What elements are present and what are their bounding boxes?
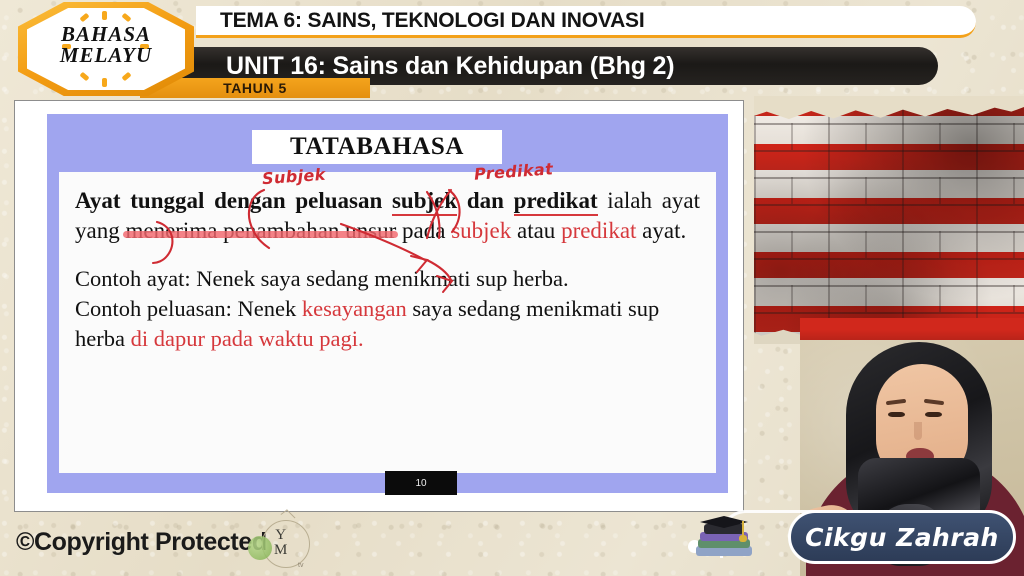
expansion-paragraph: Contoh peluasan: Nenek kesayangan saya s… <box>75 294 700 354</box>
annotation-predikat-label: Predikat <box>473 159 553 183</box>
def-seg-1: Ayat tunggal dengan peluasan <box>75 188 392 213</box>
def-seg-11: ayat. <box>636 218 686 243</box>
definition-paragraph: Ayat tunggal dengan peluasan subjek dan … <box>75 186 700 246</box>
bahasa-melayu-logo: BAHASA MELAYU <box>18 2 194 96</box>
presenter-name-pill: Cikgu Zahrah <box>788 510 1016 564</box>
tahun-banner-label: TAHUN 5 <box>223 80 287 96</box>
slide-canvas: TATABAHASA Ayat tunggal dengan peluasan … <box>47 114 728 493</box>
def-predikat-underlined: predikat <box>514 188 598 216</box>
page-number-label: 10 <box>415 478 426 489</box>
logo-line-2: MELAYU <box>18 45 194 66</box>
def-seg-3: dan <box>457 188 513 213</box>
graduation-cap-books-icon <box>696 512 754 564</box>
peluasan-kesayangan: kesayangan <box>302 296 407 321</box>
def-seg-9: atau <box>511 218 561 243</box>
def-struck-phrase: menerima penambahan unsur <box>125 218 396 243</box>
lesson-slide: TATABAHASA Ayat tunggal dengan peluasan … <box>14 100 744 512</box>
def-predikat-red: predikat <box>561 218 636 243</box>
lesson-header: TEMA 6: SAINS, TEKNOLOGI DAN INOVASI UNI… <box>0 0 1024 96</box>
brick-wall-decoration <box>754 96 1024 344</box>
slide-page-number: 10 <box>385 471 457 495</box>
contoh-peluasan-label: Contoh peluasan: <box>75 296 237 321</box>
unit-banner-tail <box>918 45 980 87</box>
peluasan-seg-a: Nenek <box>237 296 301 321</box>
def-seg-7: pada <box>396 218 451 243</box>
example-paragraph: Contoh ayat: Nenek saya sedang menikmati… <box>75 264 700 294</box>
def-subjek-underlined: subjek <box>392 188 457 216</box>
tema-banner: TEMA 6: SAINS, TEKNOLOGI DAN INOVASI <box>196 6 976 38</box>
peluasan-keterangan: di dapur pada waktu pagi. <box>131 326 364 351</box>
contoh-ayat-text: Nenek saya sedang menikmati sup herba. <box>196 266 568 291</box>
tema-banner-tail <box>956 3 1022 41</box>
unit-banner-label: UNIT 16: Sains dan Kehidupan (Bhg 2) <box>178 52 674 81</box>
contoh-ayat-label: Contoh ayat: <box>75 266 196 291</box>
annotation-subjek-label: Subjek <box>261 165 326 188</box>
sun-burst-icon <box>102 11 107 20</box>
presenter-name: Cikgu Zahrah <box>805 523 999 552</box>
presenter-badge: Cikgu Zahrah <box>684 500 1024 576</box>
page-title: TATABAHASA <box>290 133 464 161</box>
logo-line-1: BAHASA <box>18 24 194 45</box>
copyright-notice: ©Copyright Protected <box>16 528 267 557</box>
slide-title-box: TATABAHASA <box>252 130 502 164</box>
slide-body: Ayat tunggal dengan peluasan subjek dan … <box>59 172 716 473</box>
def-subjek-red: subjek <box>451 218 511 243</box>
tema-banner-label: TEMA 6: SAINS, TEKNOLOGI DAN INOVASI <box>196 9 645 33</box>
ym-watermark-logo: YM tv <box>248 514 312 574</box>
